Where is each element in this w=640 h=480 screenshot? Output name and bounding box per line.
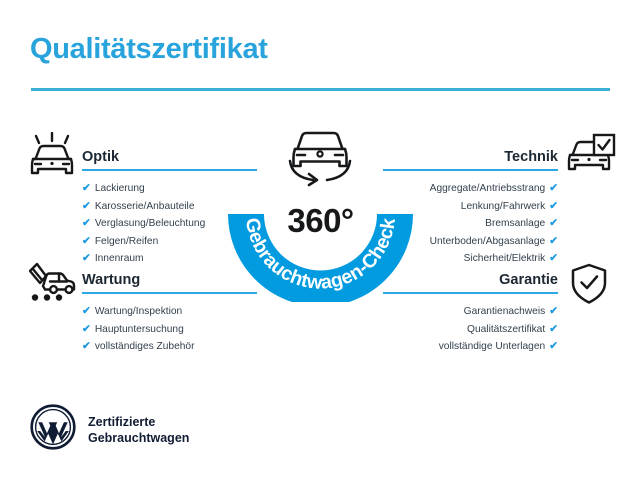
section-title-wartung: Wartung — [82, 272, 140, 288]
shield-check-icon — [570, 263, 608, 310]
list-item-label: Aggregate/Antriebsstrang — [430, 183, 546, 194]
list-item-label: Innenraum — [95, 253, 144, 264]
vw-logo-icon — [30, 404, 76, 455]
list-item-label: vollständiges Zubehör — [95, 341, 195, 352]
check-icon: ✔ — [549, 182, 558, 194]
checklist-garantie: Garantienachweis✔ Qualitätszertifikat✔ v… — [383, 303, 558, 356]
footer-line-2: Gebrauchtwagen — [88, 430, 189, 446]
car-checkbox-icon — [566, 133, 616, 182]
list-item: Garantienachweis✔ — [383, 303, 558, 321]
footer-brand: Zertifizierte Gebrauchtwagen — [30, 404, 189, 455]
list-item: vollständige Unterlagen✔ — [383, 338, 558, 356]
check-icon: ✔ — [549, 323, 558, 335]
check-icon: ✔ — [82, 305, 91, 317]
checklist-wartung: ✔Wartung/Inspektion ✔Hauptuntersuchung ✔… — [82, 303, 257, 356]
check-icon: ✔ — [82, 340, 91, 352]
check-icon: ✔ — [82, 217, 91, 229]
header-divider — [31, 88, 610, 91]
check-icon: ✔ — [549, 217, 558, 229]
check-icon: ✔ — [82, 182, 91, 194]
list-item-label: Karosserie/Anbauteile — [95, 201, 195, 212]
list-item-label: Lenkung/Fahrwerk — [461, 201, 545, 212]
list-item-label: Sicherheit/Elektrik — [464, 253, 546, 264]
check-icon: ✔ — [82, 252, 91, 264]
list-item-label: Garantienachweis — [464, 306, 546, 317]
list-item: ✔Hauptuntersuchung — [82, 321, 257, 339]
list-item-label: Felgen/Reifen — [95, 236, 158, 247]
car-shine-icon — [27, 132, 77, 183]
footer-line-1: Zertifizierte — [88, 414, 189, 430]
section-title-technik: Technik — [504, 149, 558, 165]
footer-text: Zertifizierte Gebrauchtwagen — [88, 414, 189, 446]
list-item-label: Qualitätszertifikat — [467, 324, 545, 335]
check-icon: ✔ — [549, 200, 558, 212]
check-icon: ✔ — [82, 200, 91, 212]
list-item-label: Bremsanlage — [485, 218, 545, 229]
list-item-label: Unterboden/Abgasanlage — [430, 236, 546, 247]
check-icon: ✔ — [82, 235, 91, 247]
list-item-label: Wartung/Inspektion — [95, 306, 182, 317]
check-icon: ✔ — [549, 305, 558, 317]
check-icon: ✔ — [82, 323, 91, 335]
badge-360-check: Gebrauchtwagen-Check 360° — [228, 122, 413, 302]
car-rotation-icon — [283, 123, 357, 192]
section-title-garantie: Garantie — [499, 272, 558, 288]
page-title: Qualitätszertifikat — [30, 33, 268, 66]
list-item-label: Lackierung — [95, 183, 145, 194]
list-item: ✔vollständiges Zubehör — [82, 338, 257, 356]
list-item: Qualitätszertifikat✔ — [383, 321, 558, 339]
list-item-label: vollständige Unterlagen — [439, 341, 545, 352]
check-icon: ✔ — [549, 340, 558, 352]
list-item: ✔Wartung/Inspektion — [82, 303, 257, 321]
section-title-optik: Optik — [82, 149, 119, 165]
list-item-label: Verglasung/Beleuchtung — [95, 218, 205, 229]
certificate-page: Qualitätszertifikat — [0, 0, 640, 480]
check-icon: ✔ — [549, 252, 558, 264]
check-icon: ✔ — [549, 235, 558, 247]
list-item-label: Hauptuntersuchung — [95, 324, 184, 335]
service-pencil-car-icon — [26, 262, 78, 309]
